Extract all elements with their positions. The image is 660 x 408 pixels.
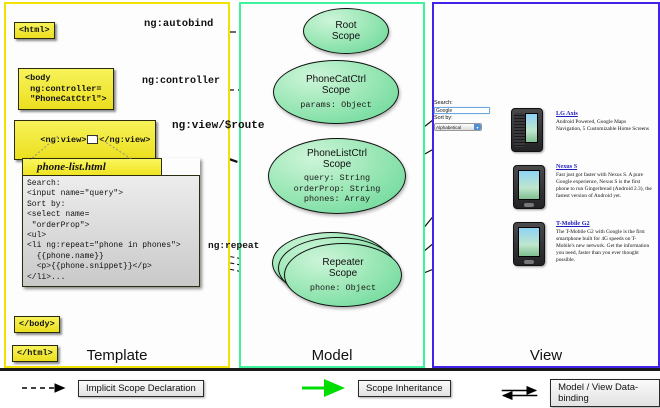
phone-list-item: T-Mobile G2 The T-Mobile G2 with Google … [556,220,652,264]
tag-html-close: </html> [12,345,58,362]
legend-item-data-binding: Model / View Data-binding [500,379,660,407]
search-input[interactable]: Google [434,107,490,114]
sort-select-value: Alphabetical [436,125,461,130]
scope-phonelistctrl-props: query: String orderProp: String phones: … [294,173,381,204]
scope-repeater: Repeater Scope phone: Object [284,243,402,307]
ngview-placeholder-icon [87,135,98,144]
legend-item-scope-inheritance: Scope Inheritance [300,379,451,397]
edge-label-ng-repeat: ng:repeat [208,240,259,251]
phone-name-link[interactable]: T-Mobile G2 [556,220,652,227]
edge-label-ng-autobind: ng:autobind [144,18,213,30]
edge-label-ng-controller: ng:controller [142,76,220,87]
phone-home-button-icon [524,260,534,264]
phone-name-link[interactable]: Nexus S [556,163,652,170]
phone-screen [525,113,538,143]
tag-ngview: <ng:view></ng:view> [14,120,156,160]
diagram-canvas: Template <html> <body ng:controller= "Ph… [0,0,660,405]
tag-ngview-open: <ng:view> [40,135,86,145]
legend-item-implicit-scope: Implicit Scope Declaration [20,379,204,397]
legend-label-data-binding: Model / View Data-binding [550,379,660,407]
partial-note: phone-list.html Search: <input name="que… [22,158,200,287]
dashed-arrow-icon [20,379,72,397]
scope-repeater-name: Repeater Scope [322,257,363,279]
phone-thumbnail-lg-axis [511,108,543,152]
scope-phonelistctrl: PhoneListCtrl Scope query: String orderP… [268,138,406,214]
scope-phonecatctrl-name: PhoneCatCtrl Scope [306,74,366,96]
phone-thumbnail-t-mobile-g2 [513,222,545,266]
phone-snippet: Fast just got faster with Nexus S. A pur… [556,172,652,200]
partial-code: Search: <input name="query"> Sort by: <s… [22,175,200,287]
view-panel-label: View [434,347,658,364]
scope-phonecatctrl-props: params: Object [300,100,371,110]
scope-phonelistctrl-name: PhoneListCtrl Scope [307,148,367,170]
tag-html-open: <html> [14,22,55,39]
sort-label: Sort by: [434,115,496,122]
phone-list-item: LG Axis Android Powered, Google Maps Nav… [556,110,652,133]
phone-keyboard-icon [514,113,525,147]
tag-ngview-close: </ng:view> [99,135,150,145]
phone-name-link[interactable]: LG Axis [556,110,652,117]
phone-screen [518,170,540,200]
tag-body-open: <body ng:controller= "PhoneCatCtrl"> [18,68,114,110]
phone-list-item: Nexus S Fast just got faster with Nexus … [556,163,652,200]
legend-label-implicit-scope: Implicit Scope Declaration [78,380,204,397]
phone-screen [518,227,540,257]
model-panel-label: Model [241,347,423,364]
double-arrow-icon [500,384,544,402]
scope-root: Root Scope [303,8,389,54]
green-arrow-icon [300,379,352,397]
phone-home-button-icon [524,203,534,207]
phone-snippet: Android Powered, Google Maps Navigation,… [556,119,652,133]
tag-body-close: </body> [14,316,60,333]
sort-select[interactable]: Alphabetical ▾ [434,123,482,131]
partial-filename: phone-list.html [22,158,162,175]
scope-root-name: Root Scope [332,20,360,42]
search-label: Search: [434,100,496,107]
phone-thumbnail-nexus-s [513,165,545,209]
chevron-down-icon: ▾ [474,124,481,130]
legend-label-scope-inheritance: Scope Inheritance [358,380,451,397]
phone-snippet: The T-Mobile G2 with Google is the first… [556,229,652,264]
legend: Implicit Scope Declaration Scope Inherit… [0,368,660,408]
view-search-form: Search: Google Sort by: Alphabetical ▾ [434,100,496,131]
scope-repeater-props: phone: Object [310,283,376,293]
edge-label-ng-view-route: ng:view/$route [172,120,264,132]
scope-phonecatctrl: PhoneCatCtrl Scope params: Object [273,60,399,124]
